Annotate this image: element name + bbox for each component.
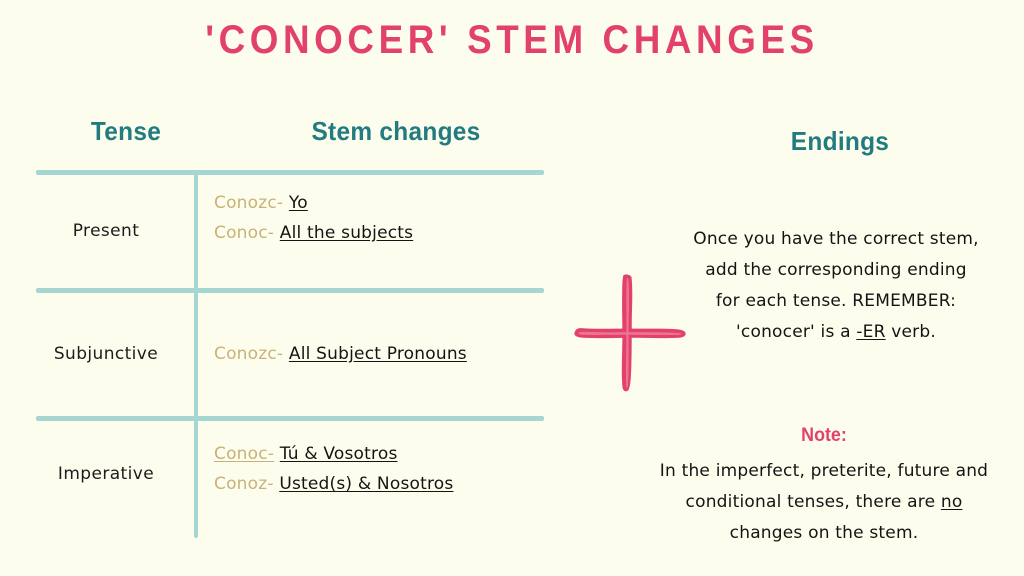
column-header-tense: Tense [60,116,192,147]
endings-er-emphasis: -ER [856,322,885,342]
stem-prefix: Conozc- [214,193,283,213]
endings-description: Once you have the correct stem, add the … [648,224,1024,348]
endings-line-2: add the corresponding ending [648,255,1024,286]
page-title-text: 'CONOCER' STEM CHANGES [41,18,983,63]
stem-prefix: Conoc- [214,444,274,464]
stem-subject: Usted(s) & Nosotros [279,474,453,494]
stem-line: Conozc- Yo [214,193,544,213]
table-row: Conozc- All Subject Pronouns [214,344,544,364]
stem-subject: All Subject Pronouns [289,344,467,364]
endings-line-4-pre: 'conocer' is a [736,322,856,342]
table-row: Conozc- Yo Conoc- All the subjects [214,193,544,243]
infographic-poster: 'CONOCER' STEM CHANGES Tense Stem change… [0,0,1024,576]
stem-line: Conoc- All the subjects [214,223,544,243]
endings-line-1: Once you have the correct stem, [648,224,1024,255]
table-rule-bottom [36,416,544,421]
note-line-1: In the imperfect, preterite, future and [624,456,1024,487]
table-rule-middle [36,288,544,293]
stem-subject: Yo [289,193,308,213]
note-line-2-pre: conditional tenses, there are [686,492,941,512]
stem-line: Conoc- Tú & Vosotros [214,444,544,464]
table-row: Conoc- Tú & Vosotros Conoz- Usted(s) & N… [214,444,544,494]
note-description: In the imperfect, preterite, future and … [624,456,1024,549]
endings-line-3: for each tense. REMEMBER: [648,286,1024,317]
note-line-3: changes on the stem. [624,518,1024,549]
table-column-divider [194,170,198,538]
stem-subject: All the subjects [280,223,413,243]
column-header-stem-changes: Stem changes [234,116,557,147]
endings-line-4-post: verb. [886,322,936,342]
stem-prefix: Conozc- [214,344,283,364]
stem-prefix: Conoz- [214,474,274,494]
endings-line-4: 'conocer' is a -ER verb. [648,317,1024,348]
note-label: Note: [636,425,1012,447]
note-no-emphasis: no [941,492,963,512]
stem-line: Conoz- Usted(s) & Nosotros [214,474,544,494]
stem-line: Conozc- All Subject Pronouns [214,344,544,364]
stem-subject: Tú & Vosotros [280,444,398,464]
stem-prefix: Conoc- [214,223,274,243]
table-row: Present [24,221,188,241]
note-line-2: conditional tenses, there are no [624,487,1024,518]
table-row: Subjunctive [24,344,188,364]
section-header-endings: Endings [671,126,1009,157]
table-row: Imperative [24,464,188,484]
table-rule-top [36,170,544,175]
page-title: 'CONOCER' STEM CHANGES [0,18,1024,63]
